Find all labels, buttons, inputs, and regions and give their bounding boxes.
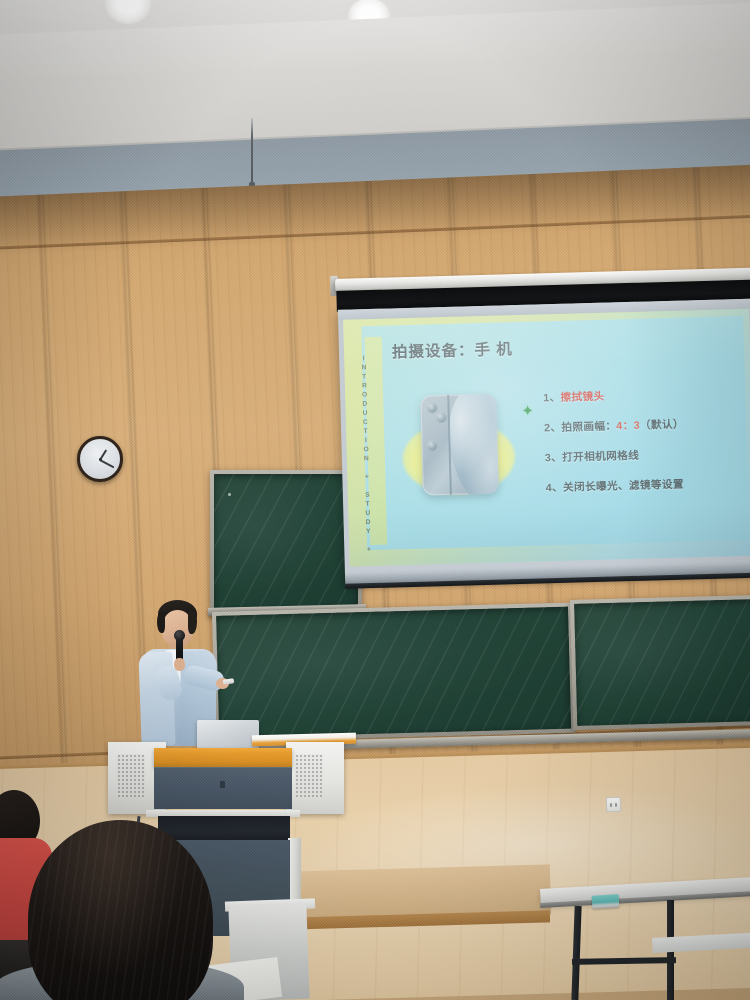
lecture-hall-photo: INTRODUCTION + STUDY + 拍摄设备：手 机 ✦ 1、擦拭镜头…	[0, 0, 750, 1000]
chalk-mark	[228, 493, 231, 496]
speaker-mesh	[117, 754, 145, 798]
blackboard-surface	[214, 474, 358, 612]
chalk-dust	[214, 474, 358, 612]
blackboard-surface	[574, 599, 750, 726]
lectern-recess	[158, 816, 290, 842]
microphone-head	[174, 630, 185, 641]
lectern-speaker-right	[286, 742, 344, 814]
bullet-text: 打开相机网格线	[562, 450, 639, 464]
blackboard-right	[570, 595, 750, 730]
speaker-mesh	[295, 754, 323, 798]
bullet-suffix: （默认）	[640, 419, 684, 432]
blackboard-surface	[216, 607, 571, 738]
sparkle-icon: ✦	[518, 403, 536, 421]
bullet-text: 擦拭镜头	[560, 391, 604, 404]
lectern-drawer	[154, 767, 292, 809]
laptop	[197, 720, 259, 748]
bullet-number: 2、	[544, 422, 562, 434]
phone-camera-lens-1	[426, 402, 437, 413]
teal-notebook	[592, 894, 620, 909]
bullet-number: 4、	[546, 482, 564, 494]
clock-center-pin	[99, 458, 102, 461]
list-item: 3、打开相机网格线	[545, 445, 741, 465]
bullet-number: 1、	[543, 392, 561, 404]
screen-surface: INTRODUCTION + STUDY + 拍摄设备：手 机 ✦ 1、擦拭镜头…	[338, 299, 750, 578]
smartphone-illustration	[420, 394, 499, 496]
wall-clock	[77, 436, 123, 482]
slide-title: 拍摄设备：手 机	[392, 337, 513, 362]
clock-hand-minute	[100, 459, 115, 468]
list-item: 4、关闭长曝光、滤镜等设置	[546, 475, 742, 495]
bullet-text: 拍照画幅：	[561, 420, 616, 433]
presenter-hand-left	[174, 658, 185, 671]
phone-camera-lens-3	[426, 440, 437, 451]
phone-wallpaper-wave	[448, 394, 499, 496]
list-item: 2、拍照画幅：4：3（默认）	[544, 415, 740, 435]
presenter-hair-side-left	[157, 612, 165, 633]
power-outlet	[606, 797, 621, 812]
bullet-number: 3、	[545, 452, 563, 464]
bullet-text: 关闭长曝光、滤镜等设置	[563, 479, 684, 494]
bullet-ratio: 4：3	[616, 420, 640, 433]
slide-bullet-list: 1、擦拭镜头 2、拍照画幅：4：3（默认） 3、打开相机网格线 4、关闭长曝光、…	[543, 385, 742, 510]
outlet-slot-right	[615, 803, 617, 807]
chalk-dust	[574, 599, 750, 726]
projected-slide: INTRODUCTION + STUDY + 拍摄设备：手 机 ✦ 1、擦拭镜头…	[343, 309, 750, 567]
chalk-dust	[216, 607, 571, 738]
lectern-top-surface	[154, 748, 292, 767]
blackboard-main	[212, 603, 575, 742]
presenter-hair-side-right	[188, 611, 197, 634]
lectern-lock	[220, 781, 225, 788]
projector-screen: INTRODUCTION + STUDY + 拍摄设备：手 机 ✦ 1、擦拭镜头…	[333, 268, 750, 619]
hanging-wire	[251, 118, 253, 190]
phone-camera-lens-2	[436, 412, 447, 423]
outlet-slot-left	[610, 803, 612, 807]
